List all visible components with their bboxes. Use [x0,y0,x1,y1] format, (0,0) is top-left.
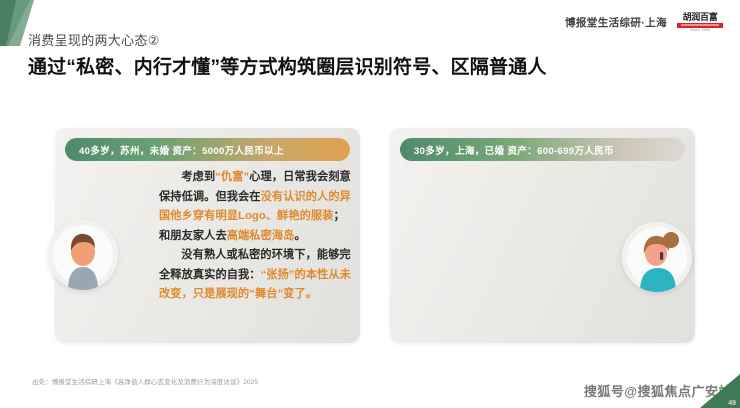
brand-label: 博报堂生活综研·上海 [565,15,667,30]
respondent-profile-badge-left: 40多岁，苏州，未婚 资产：5000万人民币以上 [65,138,350,161]
highlighted-text: 高端私密海岛 [227,230,295,242]
quote-text-left: 考虑到“仇富”心理，日常我会刻意保持低调。但我会在没有认识的人的异国他乡穿有明显… [159,168,354,305]
body-text: 。 [294,230,305,242]
highlighted-text: “仇富” [215,171,249,183]
quote-paragraph: 考虑到“仇富”心理，日常我会刻意保持低调。但我会在没有认识的人的异国他乡穿有明显… [159,168,354,246]
quote-paragraph: 没有熟人或私密的环境下，能够完全释放真实的自我：“张扬”的本性从未改变，只是展现… [159,246,354,305]
slide-root: 博报堂生活综研·上海 胡润百富 Since 1999 消费呈现的两大心态② 通过… [0,0,740,408]
page-number: 49 [728,400,736,407]
female-avatar-icon [622,222,692,292]
hurun-logo: 胡润百富 Since 1999 [676,11,724,33]
slide-kicker: 消费呈现的两大心态② [28,30,160,49]
hurun-logo-since: Since 1999 [690,28,710,33]
hurun-logo-text: 胡润百富 [683,12,718,22]
page-title: 通过“私密、内行才懂”等方式构筑圈层识别符号、区隔普通人 [28,52,547,79]
hurun-logo-bar [677,23,723,28]
source-note: 出处：博报堂生活综研上海《高净值人群心态变化及消费行为深度访谈》2025 [32,376,258,386]
male-avatar-icon [48,220,118,290]
body-text: 考虑到 [181,171,215,183]
respondent-profile-badge-right: 30多岁，上海，已婚 资产：600-699万人民币 [400,138,685,161]
brand-row: 博报堂生活综研·上海 胡润百富 Since 1999 [565,11,724,33]
